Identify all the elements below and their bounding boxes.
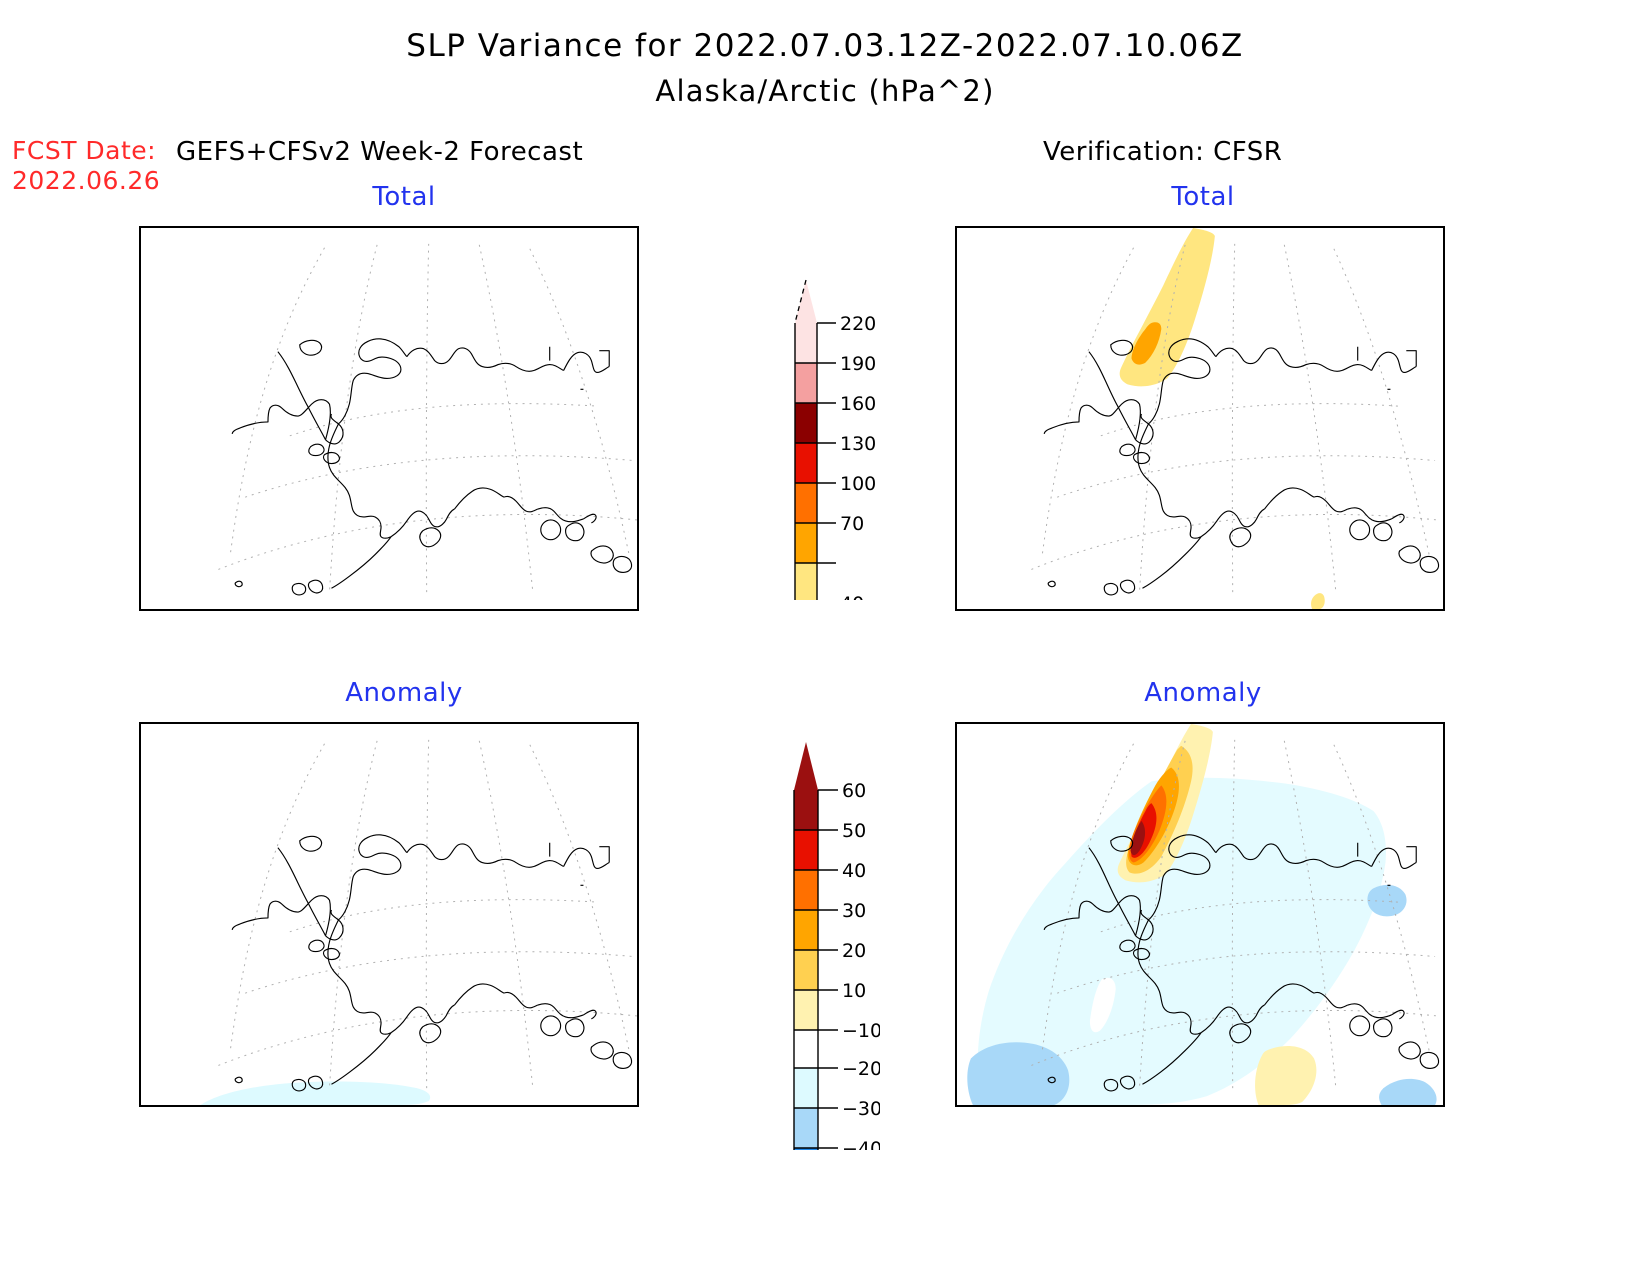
total-colorbar-stack (795, 280, 836, 600)
total-colorbar-ticklabels: 220 190 160 130 100 70 40 (840, 313, 876, 600)
filled-contours-top-right (1120, 228, 1325, 609)
anomaly-tick-20: 20 (842, 940, 866, 962)
anomaly-tick-neg30: −30 (842, 1098, 880, 1120)
map-panel-verification-total (955, 226, 1445, 611)
anomaly-tick-10: 10 (842, 980, 866, 1002)
anomaly-tick-50: 50 (842, 820, 866, 842)
total-tick-100: 100 (840, 473, 876, 495)
anomaly-colorbar: 60 50 40 30 20 10 −10 −20 −30 −40 (700, 690, 880, 1150)
anomaly-tick-neg40: −40 (842, 1138, 880, 1150)
forecast-date-value: 2022.06.26 (12, 166, 160, 196)
anomaly-tick-40: 40 (842, 860, 866, 882)
map-panel-verification-anomaly (955, 722, 1445, 1107)
figure-title-line-2: Alaska/Arctic (hPa^2) (0, 74, 1650, 108)
panel-title-bottom-right: Anomaly (958, 678, 1448, 708)
panel-title-bottom-left: Anomaly (148, 678, 660, 708)
filled-contours-bottom-left (201, 1081, 431, 1105)
coastline-top-right (1044, 339, 1438, 595)
anomaly-tick-neg20: −20 (842, 1058, 880, 1080)
graticule-bottom-left (218, 740, 637, 1092)
left-column-header: GEFS+CFSv2 Week-2 Forecast (176, 137, 583, 167)
figure-title-line-1: SLP Variance for 2022.07.03.12Z-2022.07.… (0, 28, 1650, 64)
anomaly-colorbar-stack (794, 742, 838, 1150)
total-tick-220: 220 (840, 313, 876, 335)
anomaly-tick-30: 30 (842, 900, 866, 922)
anomaly-tick-60: 60 (842, 780, 866, 802)
map-panel-forecast-anomaly (139, 722, 639, 1107)
panel-title-top-right: Total (958, 182, 1448, 212)
total-tick-40: 40 (840, 593, 864, 600)
anomaly-tick-neg10: −10 (842, 1020, 880, 1042)
panel-title-top-left: Total (148, 182, 660, 212)
total-tick-160: 160 (840, 393, 876, 415)
total-tick-70: 70 (840, 513, 864, 535)
graticule-top-right (1031, 244, 1437, 596)
graticule-top-left (218, 244, 637, 596)
map-panel-forecast-total (139, 226, 639, 611)
total-tick-190: 190 (840, 353, 876, 375)
filled-contours-bottom-right (967, 724, 1436, 1105)
total-colorbar: 220 190 160 130 100 70 40 (700, 250, 880, 600)
total-tick-130: 130 (840, 433, 876, 455)
anomaly-colorbar-ticklabels: 60 50 40 30 20 10 −10 −20 −30 −40 (842, 780, 880, 1150)
coastline-top-left (232, 339, 631, 595)
forecast-date-label: FCST Date: (12, 136, 156, 166)
coastline-bottom-left (232, 835, 631, 1091)
right-column-header: Verification: CFSR (1043, 137, 1282, 167)
figure-canvas: SLP Variance for 2022.07.03.12Z-2022.07.… (0, 0, 1650, 1275)
